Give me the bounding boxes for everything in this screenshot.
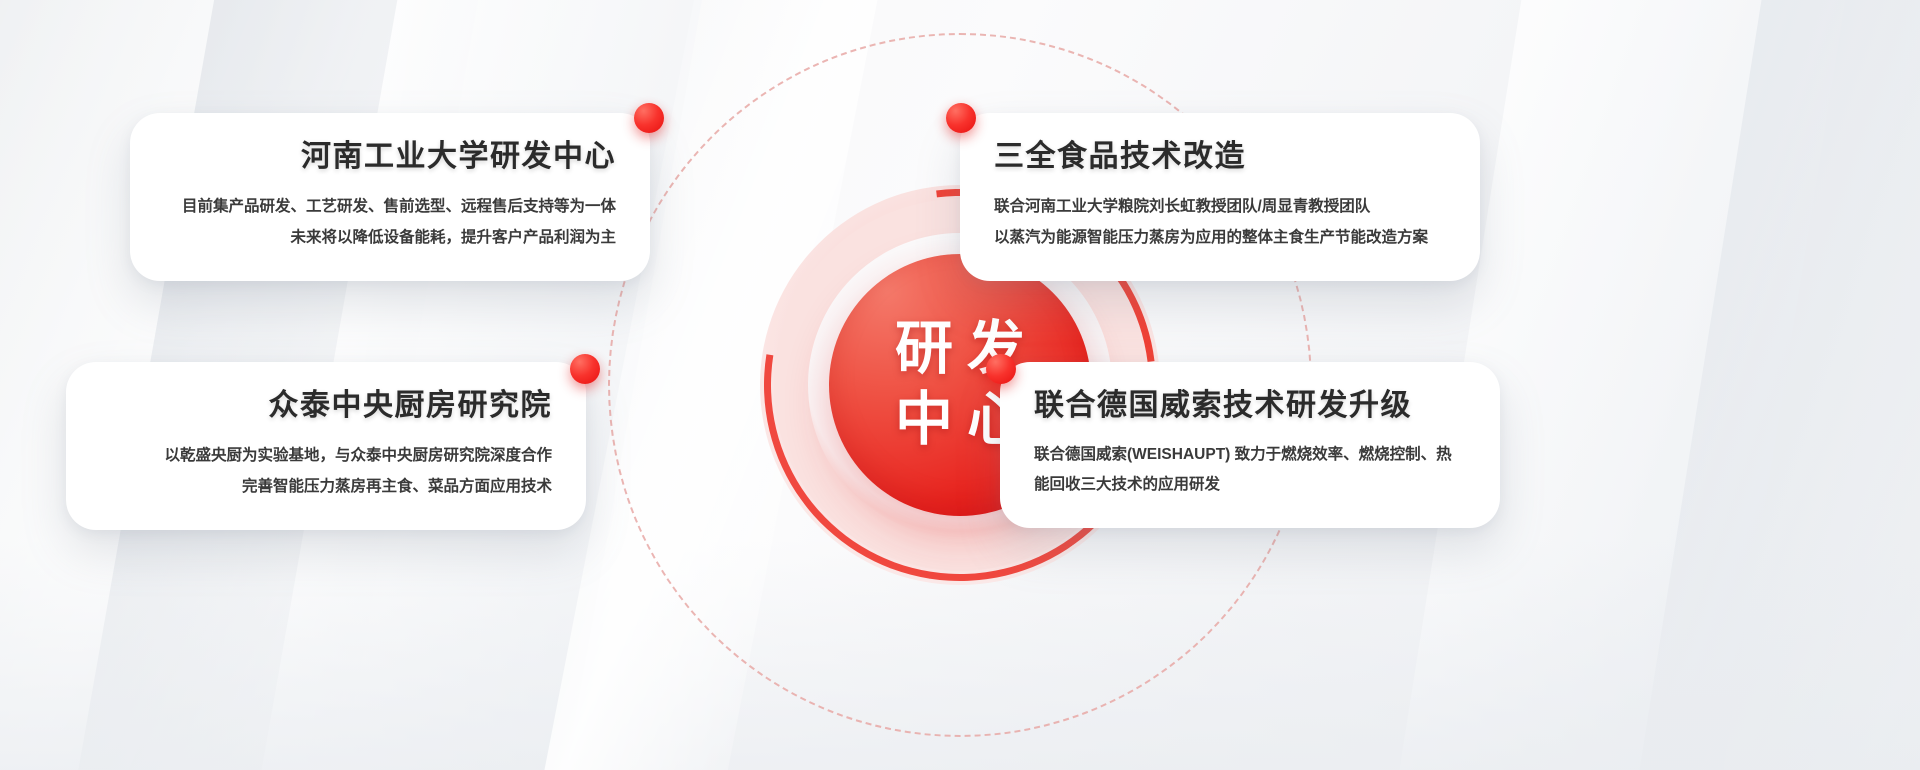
card-description-line: 能回收三大技术的应用研发 (1034, 470, 1466, 500)
card-title: 三全食品技术改造 (994, 139, 1446, 175)
card-weishaupt-joint-rd-upgrade[interactable]: 联合德国威索技术研发升级 联合德国威索(WEISHAUPT) 致力于燃烧效率、燃… (1000, 362, 1500, 528)
card-marker-dot (634, 103, 664, 133)
card-description-line: 联合德国威索(WEISHAUPT) 致力于燃烧效率、燃烧控制、热 (1034, 440, 1466, 470)
card-description-line: 目前集产品研发、工艺研发、售前选型、远程售后支持等为一体 (164, 191, 616, 222)
card-zhongtai-central-kitchen-institute[interactable]: 众泰中央厨房研究院 以乾盛央厨为实验基地，与众泰中央厨房研究院深度合作 完善智能… (66, 362, 586, 530)
card-sanquan-food-tech-upgrade[interactable]: 三全食品技术改造 联合河南工业大学粮院刘长虹教授团队/周显青教授团队 以蒸汽为能… (960, 113, 1480, 281)
card-marker-dot (946, 103, 976, 133)
card-henan-university-rd-center[interactable]: 河南工业大学研发中心 目前集产品研发、工艺研发、售前选型、远程售后支持等为一体 … (130, 113, 650, 281)
card-description-line: 以乾盛央厨为实验基地，与众泰中央厨房研究院深度合作 (100, 440, 552, 471)
card-title: 众泰中央厨房研究院 (100, 388, 552, 424)
card-marker-dot (570, 354, 600, 384)
card-description-line: 完善智能压力蒸房再主食、菜品方面应用技术 (100, 471, 552, 502)
card-description-line: 以蒸汽为能源智能压力蒸房为应用的整体主食生产节能改造方案 (994, 222, 1446, 253)
card-description-line: 联合河南工业大学粮院刘长虹教授团队/周显青教授团队 (994, 191, 1446, 222)
card-title: 联合德国威索技术研发升级 (1034, 388, 1466, 424)
card-title: 河南工业大学研发中心 (164, 139, 616, 175)
card-marker-dot (986, 354, 1016, 384)
card-description-line: 未来将以降低设备能耗，提升客户产品利润为主 (164, 222, 616, 253)
